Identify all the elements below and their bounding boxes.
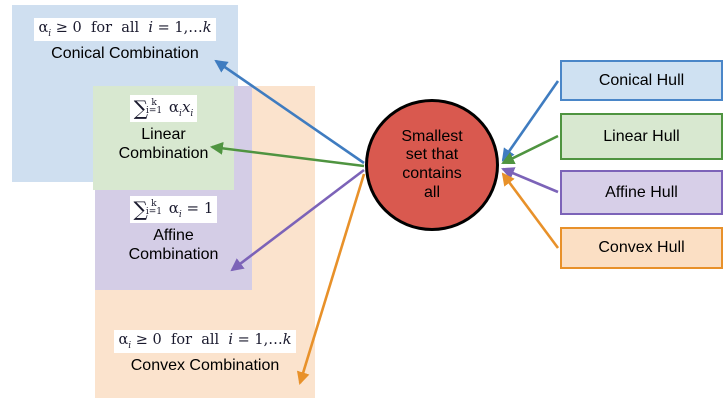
- caption-affine-line1: Affine: [153, 227, 194, 244]
- formula-conical: αi ≥ 0 for all i = 1,…k: [34, 18, 215, 41]
- label-convex-combination: αi ≥ 0 for all i = 1,…k Convex Combinati…: [95, 330, 315, 376]
- caption-conical-combination: Conical Combination: [12, 45, 238, 64]
- arrow-linear-hull-to-circle: [503, 136, 558, 163]
- arrow-convex-hull-to-circle: [503, 174, 558, 248]
- caption-linear-line2: Combination: [119, 145, 209, 162]
- central-circle-line-4: all: [424, 184, 440, 201]
- hull-box-affine[interactable]: Affine Hull: [560, 170, 723, 215]
- label-linear-combination: ∑ki=1 αixi Linear Combination: [93, 95, 234, 164]
- caption-linear-combination: Linear Combination: [93, 126, 234, 164]
- formula-linear-lower: i=1: [146, 107, 162, 116]
- central-circle: Smallest set that contains all: [365, 99, 499, 231]
- formula-affine: ∑ki=1 αi = 1: [130, 196, 218, 223]
- hull-box-conical[interactable]: Conical Hull: [560, 60, 723, 101]
- caption-affine-line2: Combination: [129, 246, 219, 263]
- central-circle-line-3: contains: [402, 165, 462, 182]
- hull-label-affine: Affine Hull: [605, 184, 678, 202]
- formula-affine-lower: i=1: [146, 208, 162, 217]
- label-affine-combination: ∑ki=1 αi = 1 Affine Combination: [95, 196, 252, 265]
- hull-label-convex: Convex Hull: [598, 239, 684, 257]
- central-circle-line-2: set that: [406, 146, 458, 163]
- caption-linear-line1: Linear: [141, 126, 185, 143]
- central-circle-line-1: Smallest: [401, 128, 462, 145]
- caption-convex-combination: Convex Combination: [95, 357, 315, 376]
- diagram-canvas: αi ≥ 0 for all i = 1,…k Conical Combinat…: [0, 0, 728, 410]
- arrow-conical-hull-to-circle: [503, 81, 558, 160]
- hull-label-conical: Conical Hull: [599, 72, 684, 90]
- formula-linear: ∑ki=1 αixi: [130, 95, 198, 122]
- central-circle-text: Smallest set that contains all: [401, 128, 462, 202]
- hull-box-convex[interactable]: Convex Hull: [560, 227, 723, 269]
- arrow-affine-hull-to-circle: [503, 169, 558, 192]
- hull-box-linear[interactable]: Linear Hull: [560, 113, 723, 160]
- hull-label-linear: Linear Hull: [603, 128, 679, 146]
- label-conical-combination: αi ≥ 0 for all i = 1,…k Conical Combinat…: [12, 18, 238, 64]
- caption-affine-combination: Affine Combination: [95, 227, 252, 265]
- formula-convex: αi ≥ 0 for all i = 1,…k: [114, 330, 295, 353]
